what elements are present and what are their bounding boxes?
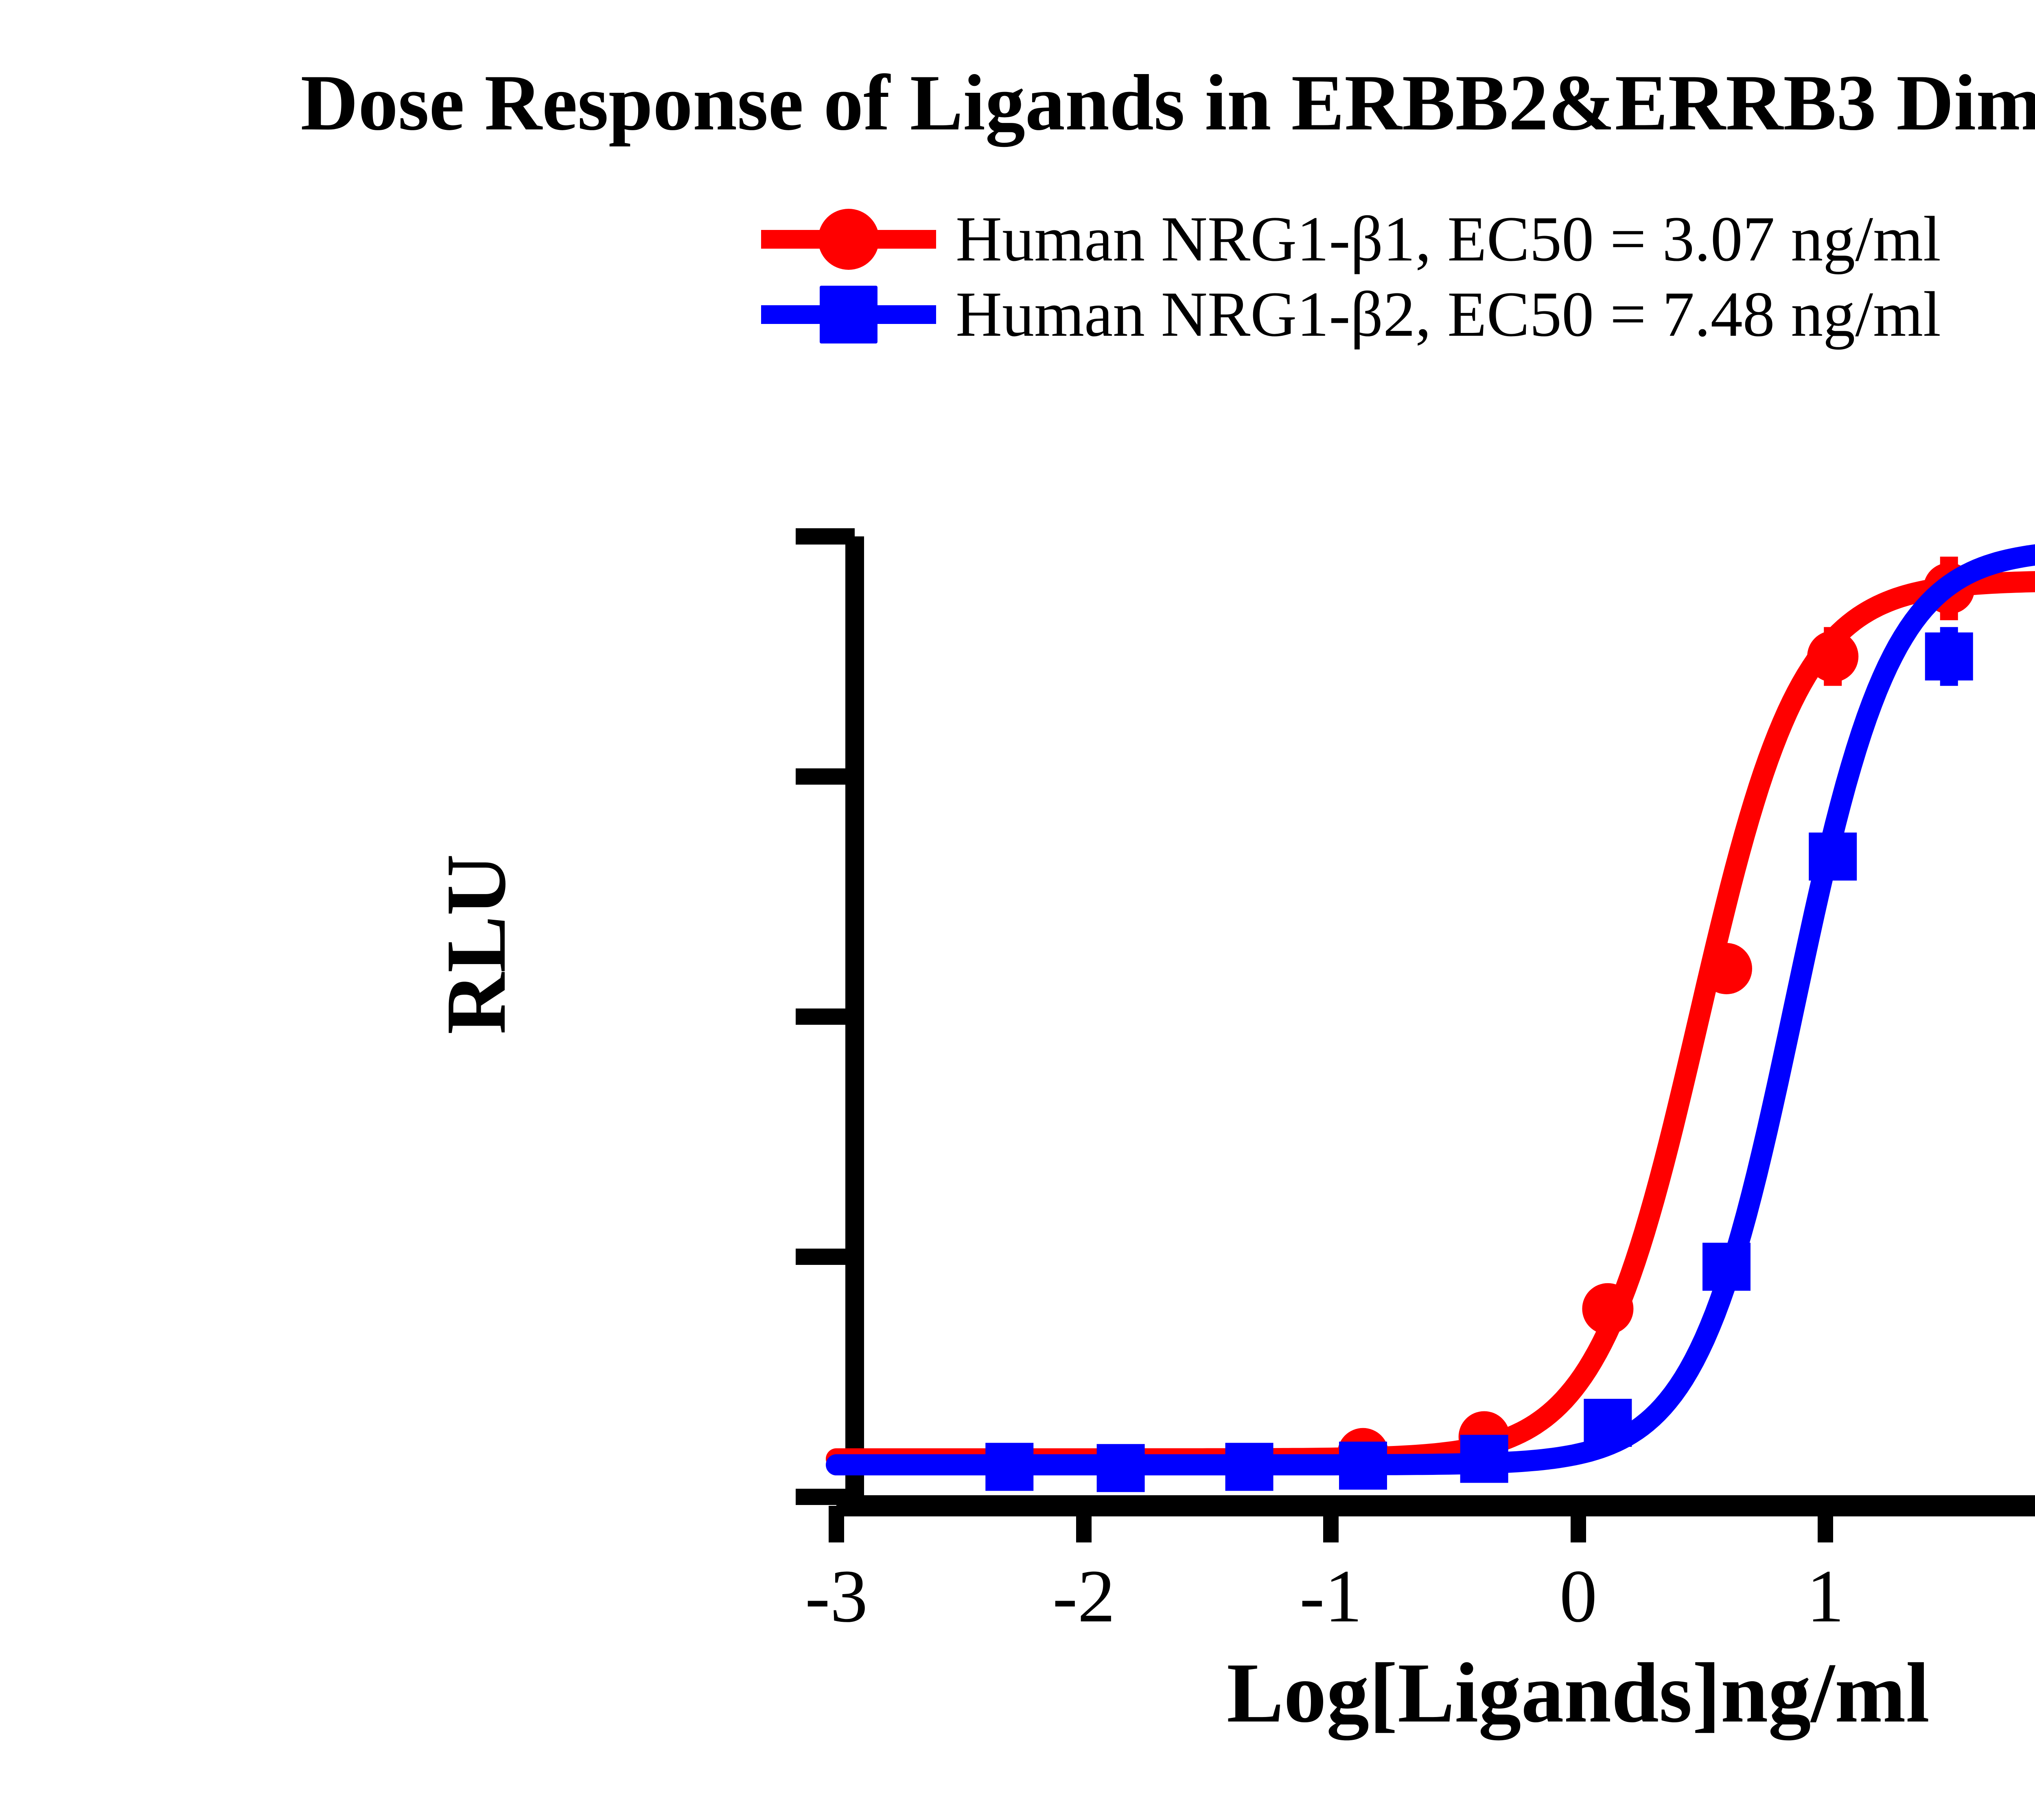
series-1 [836, 557, 2035, 1479]
data-point-square [1097, 1444, 1145, 1492]
chart-plot-area: RLU Log[Ligands]ng/ml 2400000 1800000 12… [0, 0, 2035, 1820]
data-point-circle [1701, 943, 1752, 994]
data-point-square [1584, 1399, 1632, 1447]
chart-series-layer [836, 519, 2035, 1492]
data-point-circle [1807, 631, 1858, 682]
data-point-square [1339, 1442, 1387, 1490]
series-fit-curve [836, 549, 2035, 1465]
data-point-square [1225, 1443, 1274, 1491]
data-point-square [1925, 632, 1973, 680]
data-point-square [1460, 1435, 1508, 1483]
data-point-circle [1582, 1283, 1633, 1334]
data-point-square [1702, 1243, 1751, 1291]
series-fit-curve [836, 581, 2035, 1459]
chart-canvas [0, 0, 2035, 1820]
data-point-square [985, 1443, 1033, 1491]
data-point-square [1809, 833, 1857, 881]
